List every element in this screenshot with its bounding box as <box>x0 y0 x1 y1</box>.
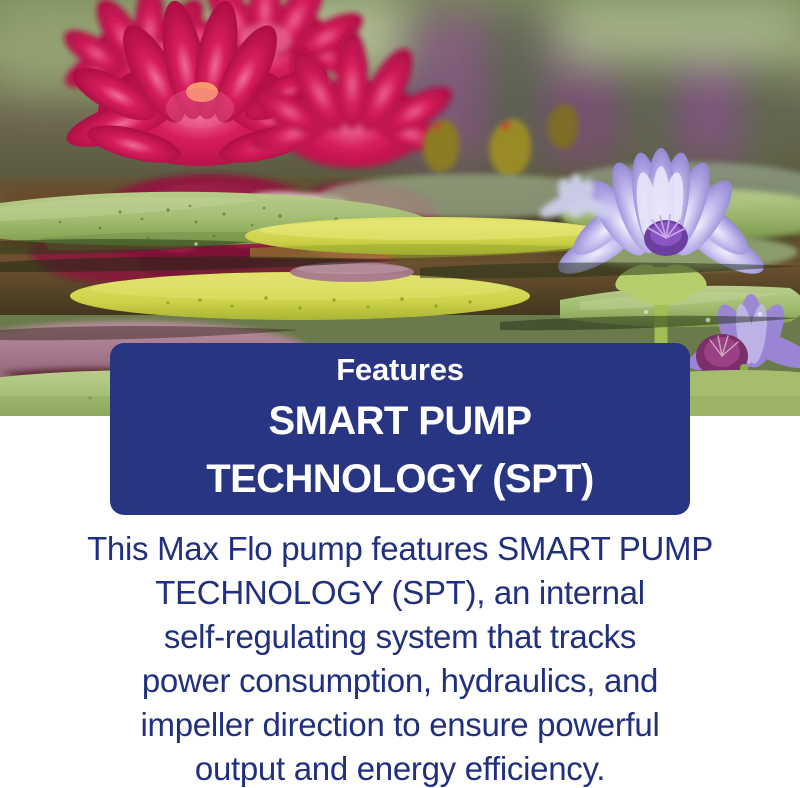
description-line-5: impeller direction to ensure powerful <box>28 703 772 747</box>
banner-title-line-2: TECHNOLOGY (SPT) <box>110 450 690 508</box>
banner-eyebrow: Features <box>110 350 690 390</box>
description-line-6: output and energy efficiency. <box>28 747 772 788</box>
banner-title: SMART PUMP TECHNOLOGY (SPT) <box>110 392 690 508</box>
description-line-2: TECHNOLOGY (SPT), an internal <box>28 571 772 615</box>
lily-pad-yellow-lower <box>70 272 530 320</box>
banner-title-line-1: SMART PUMP <box>110 392 690 450</box>
description-line-1: This Max Flo pump features SMART PUMP <box>28 527 772 571</box>
feature-card: Features SMART PUMP TECHNOLOGY (SPT) Thi… <box>0 0 800 788</box>
feature-description: This Max Flo pump features SMART PUMP TE… <box>28 527 772 788</box>
description-line-3: self-regulating system that tracks <box>28 615 772 659</box>
features-banner: Features SMART PUMP TECHNOLOGY (SPT) <box>110 343 690 515</box>
description-line-4: power consumption, hydraulics, and <box>28 659 772 703</box>
